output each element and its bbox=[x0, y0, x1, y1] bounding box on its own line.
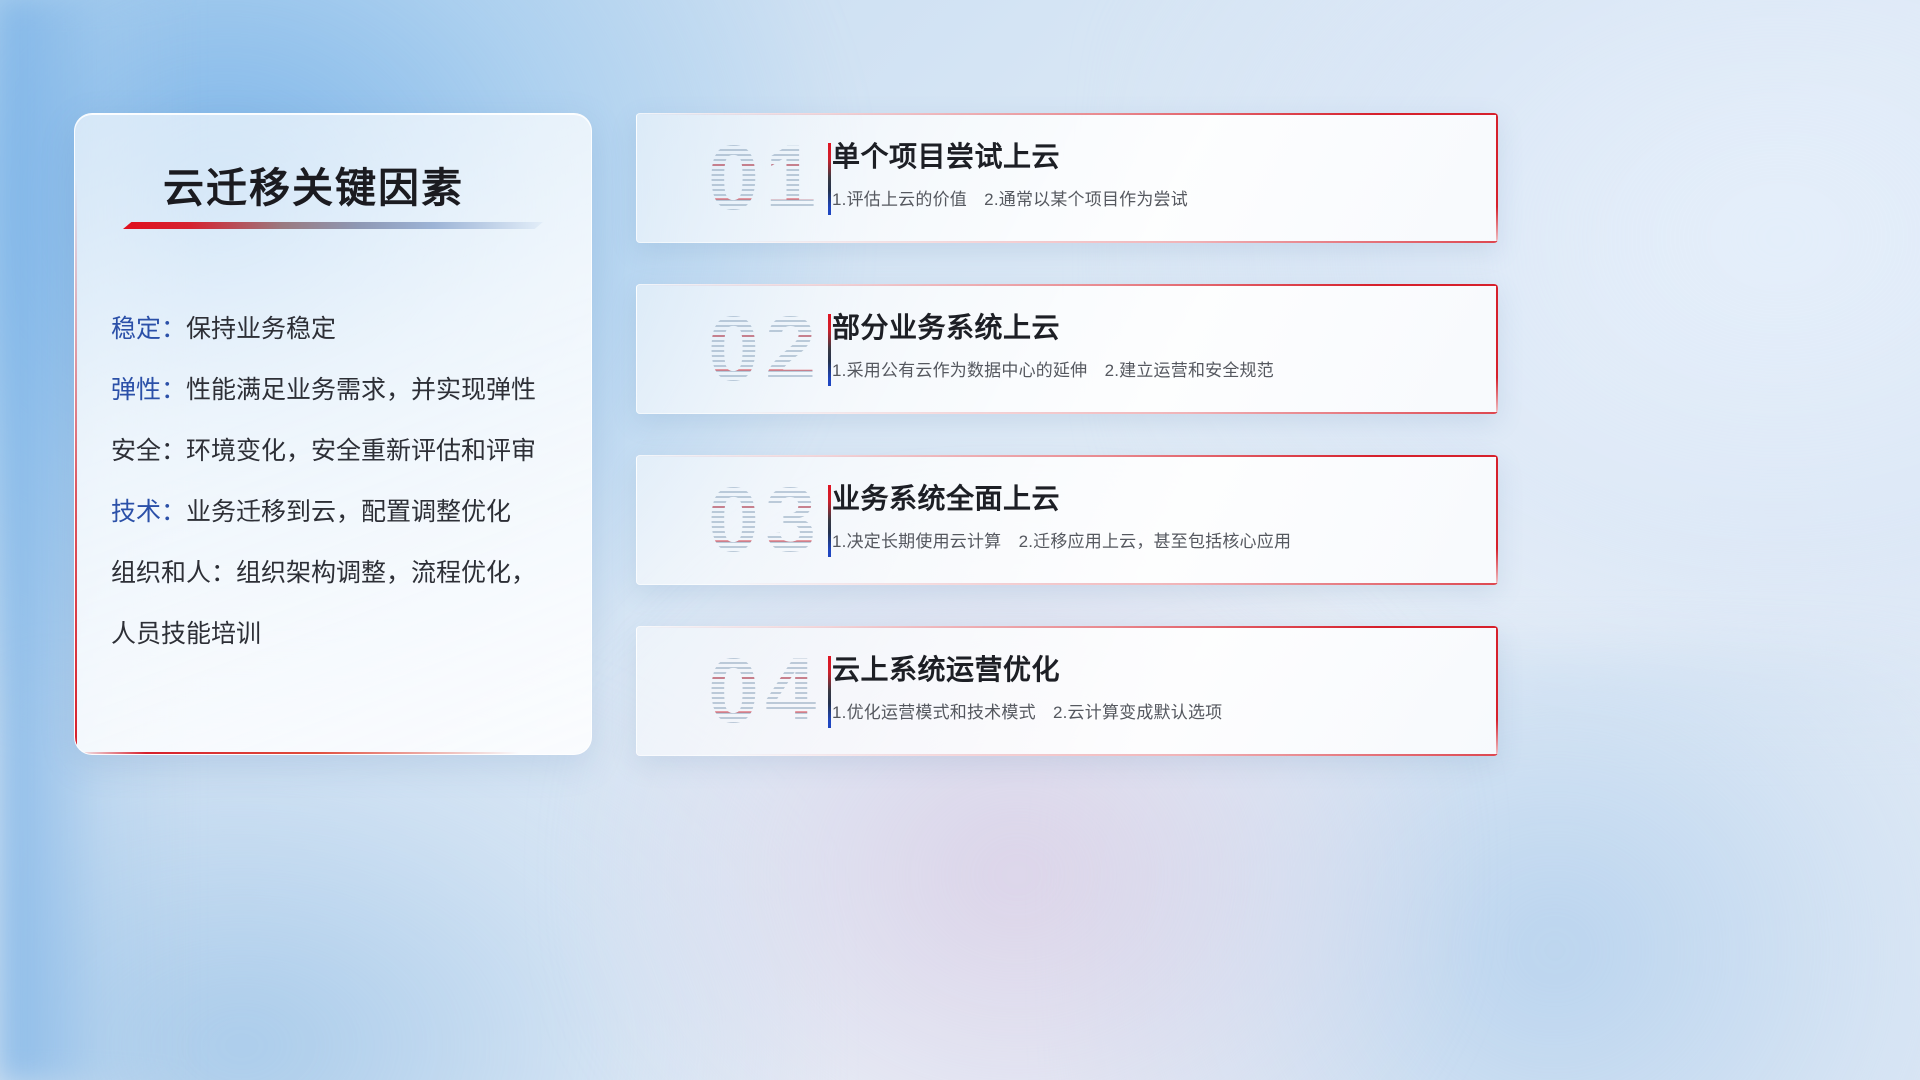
title-underline-rule bbox=[123, 222, 543, 229]
card-top-accent-line bbox=[636, 455, 1498, 457]
card-top-accent-line bbox=[636, 113, 1498, 115]
step-description: 1.决定长期使用云计算 2.迁移应用上云，甚至包括核心应用 bbox=[832, 527, 1474, 552]
card-bottom-accent-line bbox=[722, 412, 1498, 414]
key-factor-item: 稳定：保持业务稳定 bbox=[111, 299, 571, 360]
card-top-accent-line bbox=[636, 284, 1498, 286]
key-factor-item: 弹性：性能满足业务需求，并实现弹性 bbox=[111, 360, 571, 421]
step-title: 云上系统运营优化 bbox=[832, 648, 1474, 688]
step-card[interactable]: 0303业务系统全面上云1.决定长期使用云计算 2.迁移应用上云，甚至包括核心应… bbox=[636, 455, 1498, 585]
card-top-accent-line bbox=[636, 626, 1498, 628]
card-bottom-accent-line bbox=[722, 583, 1498, 585]
step-title: 部分业务系统上云 bbox=[832, 306, 1474, 346]
key-factor-label: 安全： bbox=[111, 437, 186, 465]
key-factor-value: 性能满足业务需求，并实现弹性 bbox=[186, 376, 536, 404]
step-title: 业务系统全面上云 bbox=[832, 477, 1474, 517]
key-factor-label: 技术： bbox=[111, 498, 186, 526]
key-factor-item: 人员技能培训 bbox=[111, 604, 571, 665]
card-left-highlight-line bbox=[636, 113, 637, 243]
key-factor-value: 组织架构调整，流程优化， bbox=[236, 559, 536, 587]
card-right-accent-line bbox=[1496, 113, 1498, 243]
key-factors-panel: 云迁移关键因素 稳定：保持业务稳定弹性：性能满足业务需求，并实现弹性安全：环境变… bbox=[74, 113, 592, 755]
card-right-accent-line bbox=[1496, 626, 1498, 756]
key-factor-item: 技术：业务迁移到云，配置调整优化 bbox=[111, 482, 571, 543]
step-card[interactable]: 0404云上系统运营优化1.优化运营模式和技术模式 2.云计算变成默认选项 bbox=[636, 626, 1498, 756]
key-factor-item: 安全：环境变化，安全重新评估和评审 bbox=[111, 421, 571, 482]
step-body: 云上系统运营优化1.优化运营模式和技术模式 2.云计算变成默认选项 bbox=[832, 648, 1474, 723]
step-body: 部分业务系统上云1.采用公有云作为数据中心的延伸 2.建立运营和安全规范 bbox=[832, 306, 1474, 381]
key-factor-item: 组织和人：组织架构调整，流程优化， bbox=[111, 543, 571, 604]
step-body: 业务系统全面上云1.决定长期使用云计算 2.迁移应用上云，甚至包括核心应用 bbox=[832, 477, 1474, 552]
card-left-highlight-line bbox=[636, 455, 637, 585]
step-title: 单个项目尝试上云 bbox=[832, 135, 1474, 175]
card-right-accent-line bbox=[1496, 455, 1498, 585]
key-factor-label: 组织和人： bbox=[111, 559, 236, 587]
card-bottom-accent-line bbox=[722, 241, 1498, 243]
step-divider-bar bbox=[828, 656, 831, 728]
card-left-highlight-line bbox=[636, 284, 637, 414]
step-divider-bar bbox=[828, 485, 831, 557]
key-factor-label: 稳定： bbox=[111, 315, 186, 343]
key-factor-value: 人员技能培训 bbox=[111, 620, 261, 648]
card-bottom-accent-line bbox=[722, 754, 1498, 756]
step-card[interactable]: 0101单个项目尝试上云1.评估上云的价值 2.通常以某个项目作为尝试 bbox=[636, 113, 1498, 243]
key-factor-value: 保持业务稳定 bbox=[186, 315, 336, 343]
step-description: 1.优化运营模式和技术模式 2.云计算变成默认选项 bbox=[832, 698, 1474, 723]
step-divider-bar bbox=[828, 314, 831, 386]
step-divider-bar bbox=[828, 143, 831, 215]
slide-stage: 云迁移关键因素 稳定：保持业务稳定弹性：性能满足业务需求，并实现弹性安全：环境变… bbox=[0, 0, 1920, 1080]
key-factor-label: 弹性： bbox=[111, 376, 186, 404]
key-factor-value: 环境变化，安全重新评估和评审 bbox=[186, 437, 536, 465]
key-factor-value: 业务迁移到云，配置调整优化 bbox=[186, 498, 511, 526]
step-body: 单个项目尝试上云1.评估上云的价值 2.通常以某个项目作为尝试 bbox=[832, 135, 1474, 210]
key-factors-list: 稳定：保持业务稳定弹性：性能满足业务需求，并实现弹性安全：环境变化，安全重新评估… bbox=[111, 299, 571, 665]
step-description: 1.采用公有云作为数据中心的延伸 2.建立运营和安全规范 bbox=[832, 356, 1474, 381]
step-card[interactable]: 0202部分业务系统上云1.采用公有云作为数据中心的延伸 2.建立运营和安全规范 bbox=[636, 284, 1498, 414]
page-title: 云迁移关键因素 bbox=[163, 154, 464, 214]
card-left-highlight-line bbox=[636, 626, 637, 756]
card-right-accent-line bbox=[1496, 284, 1498, 414]
step-description: 1.评估上云的价值 2.通常以某个项目作为尝试 bbox=[832, 185, 1474, 210]
